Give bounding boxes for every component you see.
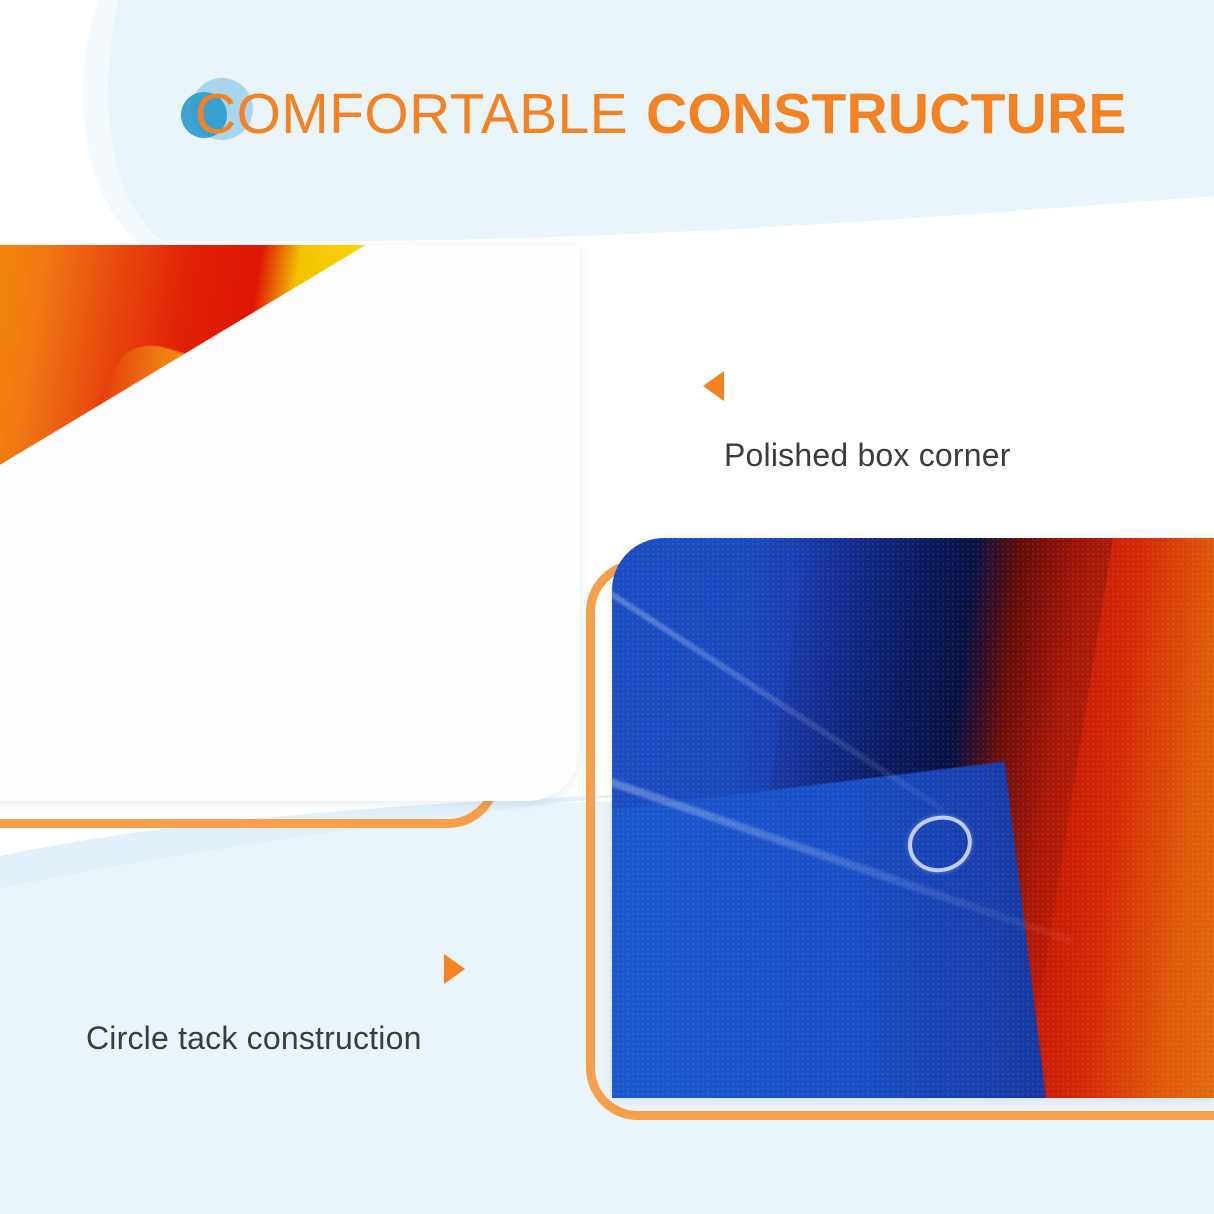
blue-fabric-circle-tack-photo-content <box>612 538 1214 1098</box>
product-feature-banner: COMFORTABLE CONSTRUCTURE P <box>0 0 1214 1214</box>
triangle-right-icon <box>444 954 465 984</box>
feature-label-circle-tack-construction: Circle tack construction <box>86 1020 422 1057</box>
blue-fabric-circle-tack-photo <box>612 538 1214 1098</box>
page-title: COMFORTABLE CONSTRUCTURE <box>195 86 1127 143</box>
triangle-left-icon <box>703 371 724 401</box>
page-title-light: COMFORTABLE <box>195 86 628 143</box>
rainbow-bag-corner-photo <box>0 245 580 801</box>
page-title-bold: CONSTRUCTURE <box>646 86 1127 143</box>
feature-label-polished-box-corner: Polished box corner <box>724 437 1011 474</box>
rainbow-bag-corner-photo-content <box>0 245 580 801</box>
fabric-weave-texture <box>612 538 1214 1098</box>
